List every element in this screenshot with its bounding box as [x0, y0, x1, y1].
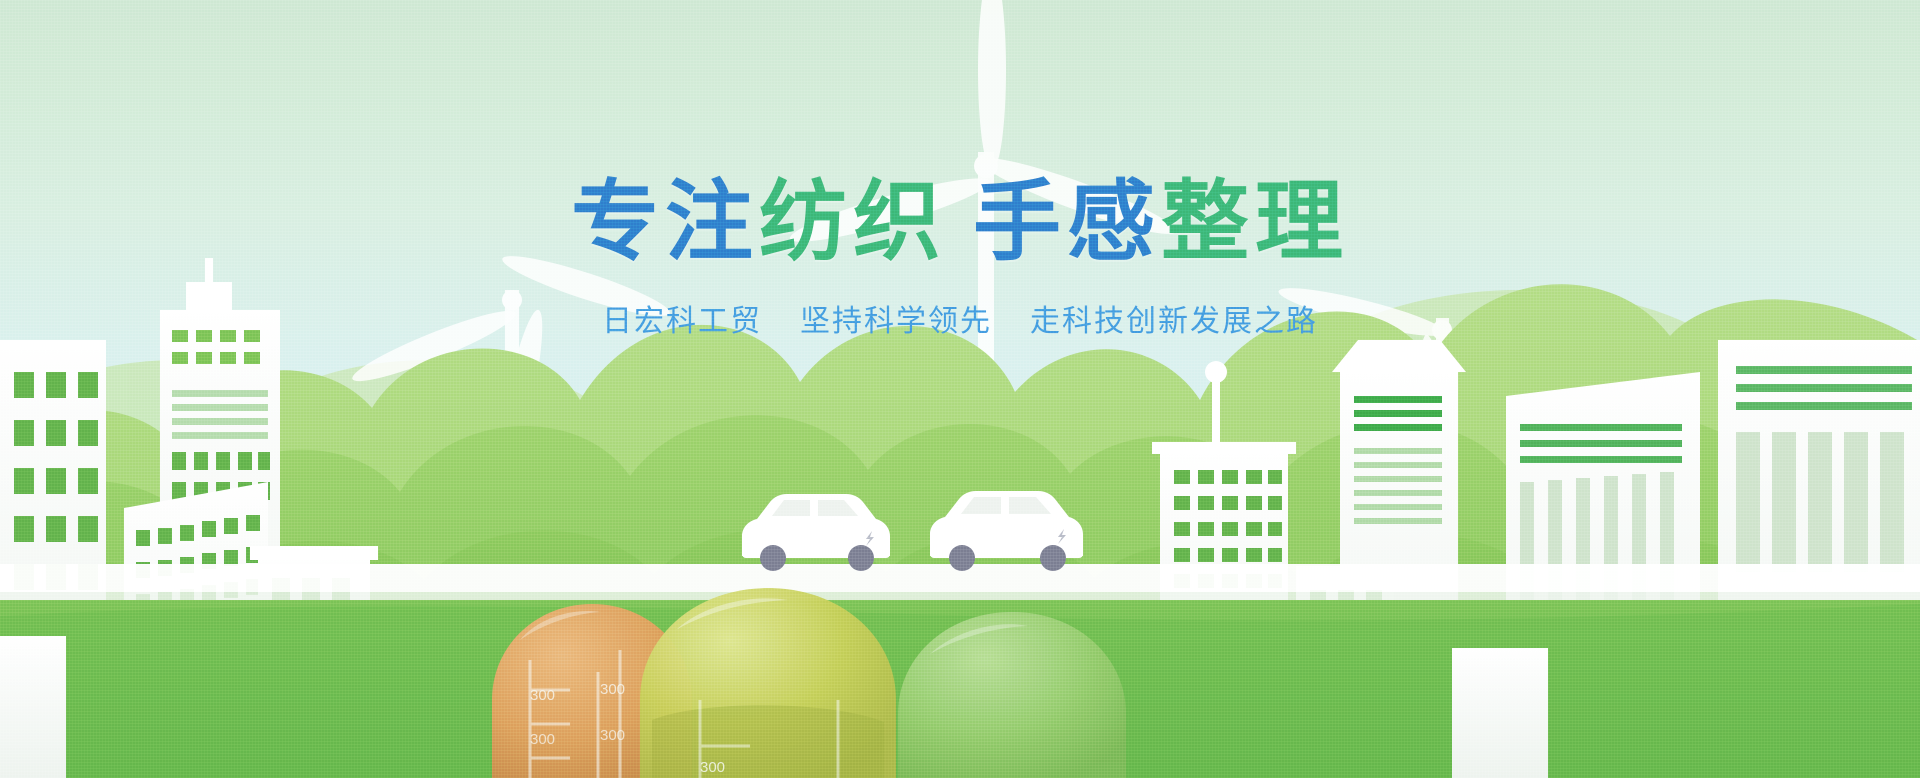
banner-hero: 专注纺织手感整理 日宏科工贸坚持科学领先走科技创新发展之路	[0, 0, 1920, 778]
subtitle-part-1: 日宏科工贸	[602, 305, 762, 338]
headline-part-4: 整理	[1161, 172, 1349, 271]
beaker-orange-scale-label-3: 300	[530, 731, 555, 748]
headline-part-1: 专注	[571, 172, 759, 271]
page-title: 专注纺织手感整理	[0, 176, 1920, 268]
beaker-yellow-scale-label-1: 300	[700, 759, 725, 776]
beaker-orange-scale-label-4: 300	[600, 727, 625, 744]
glassware-layer: 300 300 300 300 300	[0, 0, 1920, 778]
page-subtitle: 日宏科工贸坚持科学领先走科技创新发展之路	[0, 296, 1920, 340]
beaker-green	[898, 612, 1126, 778]
hero-text-block: 专注纺织手感整理 日宏科工贸坚持科学领先走科技创新发展之路	[0, 176, 1920, 340]
subtitle-part-3: 走科技创新发展之路	[1030, 305, 1318, 338]
subtitle-part-2: 坚持科学领先	[800, 305, 992, 338]
beaker-orange-scale-label-2: 300	[600, 681, 625, 698]
beaker-orange-scale-label-1: 300	[530, 687, 555, 704]
beaker-yellow-green: 300	[640, 588, 896, 778]
headline-part-3: 手感	[973, 172, 1161, 271]
headline-part-2: 纺织	[759, 172, 947, 271]
